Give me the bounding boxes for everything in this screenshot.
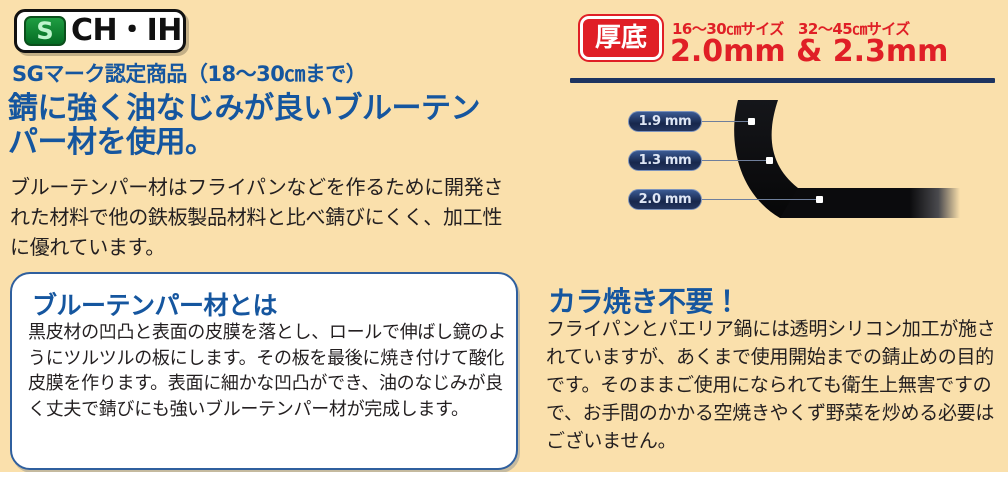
blue-temper-info-box: ブルーテンパー材とは 黒皮材の凹凸と表面の皮膜を落とし、ロールで伸ばし鏡のように… bbox=[10, 272, 518, 470]
left-column: CH・IH SGマーク認定商品（18〜30㎝まで） 錆に強く油なじみが良いブルー… bbox=[0, 0, 530, 478]
thickness-callout-1: 1.9 mm bbox=[628, 111, 702, 132]
leader-line-1 bbox=[702, 121, 750, 122]
thickness-values-label: 2.0mm & 2.3mm bbox=[670, 34, 948, 69]
ch-ih-badge-label: CH・IH bbox=[71, 16, 182, 46]
right-main-heading: カラ焼き不要！ bbox=[548, 280, 741, 320]
right-body-paragraph: フライパンとパエリア鍋には透明シリコン加工が施されていますが、あくまで使用開始ま… bbox=[546, 316, 998, 456]
left-lead-paragraph: ブルーテンパー材はフライパンなどを作るために開発された材料で他の鉄板製品材料と比… bbox=[10, 172, 510, 262]
leader-line-3 bbox=[702, 199, 818, 200]
navy-divider-rule bbox=[570, 78, 995, 83]
leader-line-2 bbox=[702, 160, 768, 161]
sg-mark-certification-line: SGマーク認定商品（18〜30㎝まで） bbox=[12, 58, 366, 88]
thickness-callout-2: 1.3 mm bbox=[628, 150, 702, 171]
sg-logo-icon bbox=[24, 16, 66, 46]
right-column: 厚底 16〜30㎝サイズ 32〜45㎝サイズ 2.0mm & 2.3mm bbox=[530, 0, 1008, 478]
pan-cross-section-diagram: 1.9 mm 1.3 mm 2.0 mm bbox=[530, 88, 1008, 263]
left-main-heading: 錆に強く油なじみが良いブルーテンパー材を使用。 bbox=[8, 92, 508, 160]
thick-bottom-stamp-label: 厚底 bbox=[595, 25, 647, 51]
thick-bottom-stamp: 厚底 bbox=[580, 16, 662, 60]
measure-point-3 bbox=[816, 196, 823, 203]
blue-temper-box-body: 黒皮材の凹凸と表面の皮膜を落とし、ロールで伸ばし鏡のようにツルツルの板にします。… bbox=[28, 320, 506, 422]
measure-point-1 bbox=[748, 118, 755, 125]
ch-ih-compatibility-badge: CH・IH bbox=[14, 9, 186, 53]
pan-cross-section-shape bbox=[530, 88, 1008, 263]
thickness-callout-3: 2.0 mm bbox=[628, 189, 702, 210]
bottom-white-strip bbox=[0, 472, 1008, 478]
product-info-page: CH・IH SGマーク認定商品（18〜30㎝まで） 錆に強く油なじみが良いブルー… bbox=[0, 0, 1008, 478]
blue-temper-box-title: ブルーテンパー材とは bbox=[32, 286, 277, 322]
measure-point-2 bbox=[766, 157, 773, 164]
